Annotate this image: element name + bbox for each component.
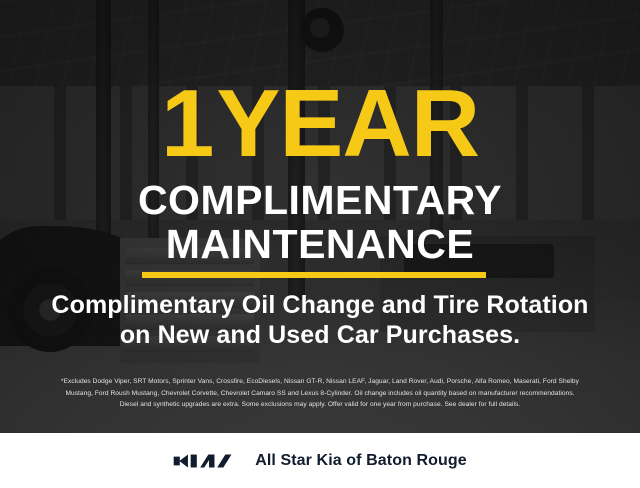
- dealer-name: All Star Kia of Baton Rouge: [255, 452, 467, 470]
- promo-description: Complimentary Oil Change and Tire Rotati…: [0, 290, 640, 350]
- disclaimer-line3: Diesel and synthetic upgrades are extra.…: [14, 399, 626, 411]
- promotional-banner: 1YEAR COMPLIMENTARY MAINTENANCE Complime…: [0, 0, 640, 488]
- kia-logo-icon: [173, 450, 241, 472]
- footer-bar: All Star Kia of Baton Rouge: [0, 433, 640, 488]
- disclaimer-text: *Excludes Dodge Viper, SRT Motors, Sprin…: [14, 376, 626, 411]
- disclaimer-line2: Mustang, Ford Roush Mustang, Chevrolet C…: [14, 388, 626, 400]
- headline-offer-line1: COMPLIMENTARY: [0, 178, 640, 222]
- disclaimer-line1: *Excludes Dodge Viper, SRT Motors, Sprin…: [14, 376, 626, 388]
- headline-unit: YEAR: [216, 70, 479, 177]
- banner-content: 1YEAR COMPLIMENTARY MAINTENANCE Complime…: [0, 0, 640, 433]
- promo-line2: on New and Used Car Purchases.: [0, 320, 640, 350]
- headline-offer-line2: MAINTENANCE: [0, 222, 640, 266]
- headline-number: 1: [161, 70, 216, 177]
- headline-duration: 1YEAR: [0, 76, 640, 172]
- promo-line1: Complimentary Oil Change and Tire Rotati…: [0, 290, 640, 320]
- headline-offer: COMPLIMENTARY MAINTENANCE: [0, 178, 640, 266]
- yellow-divider-rule: [142, 272, 486, 278]
